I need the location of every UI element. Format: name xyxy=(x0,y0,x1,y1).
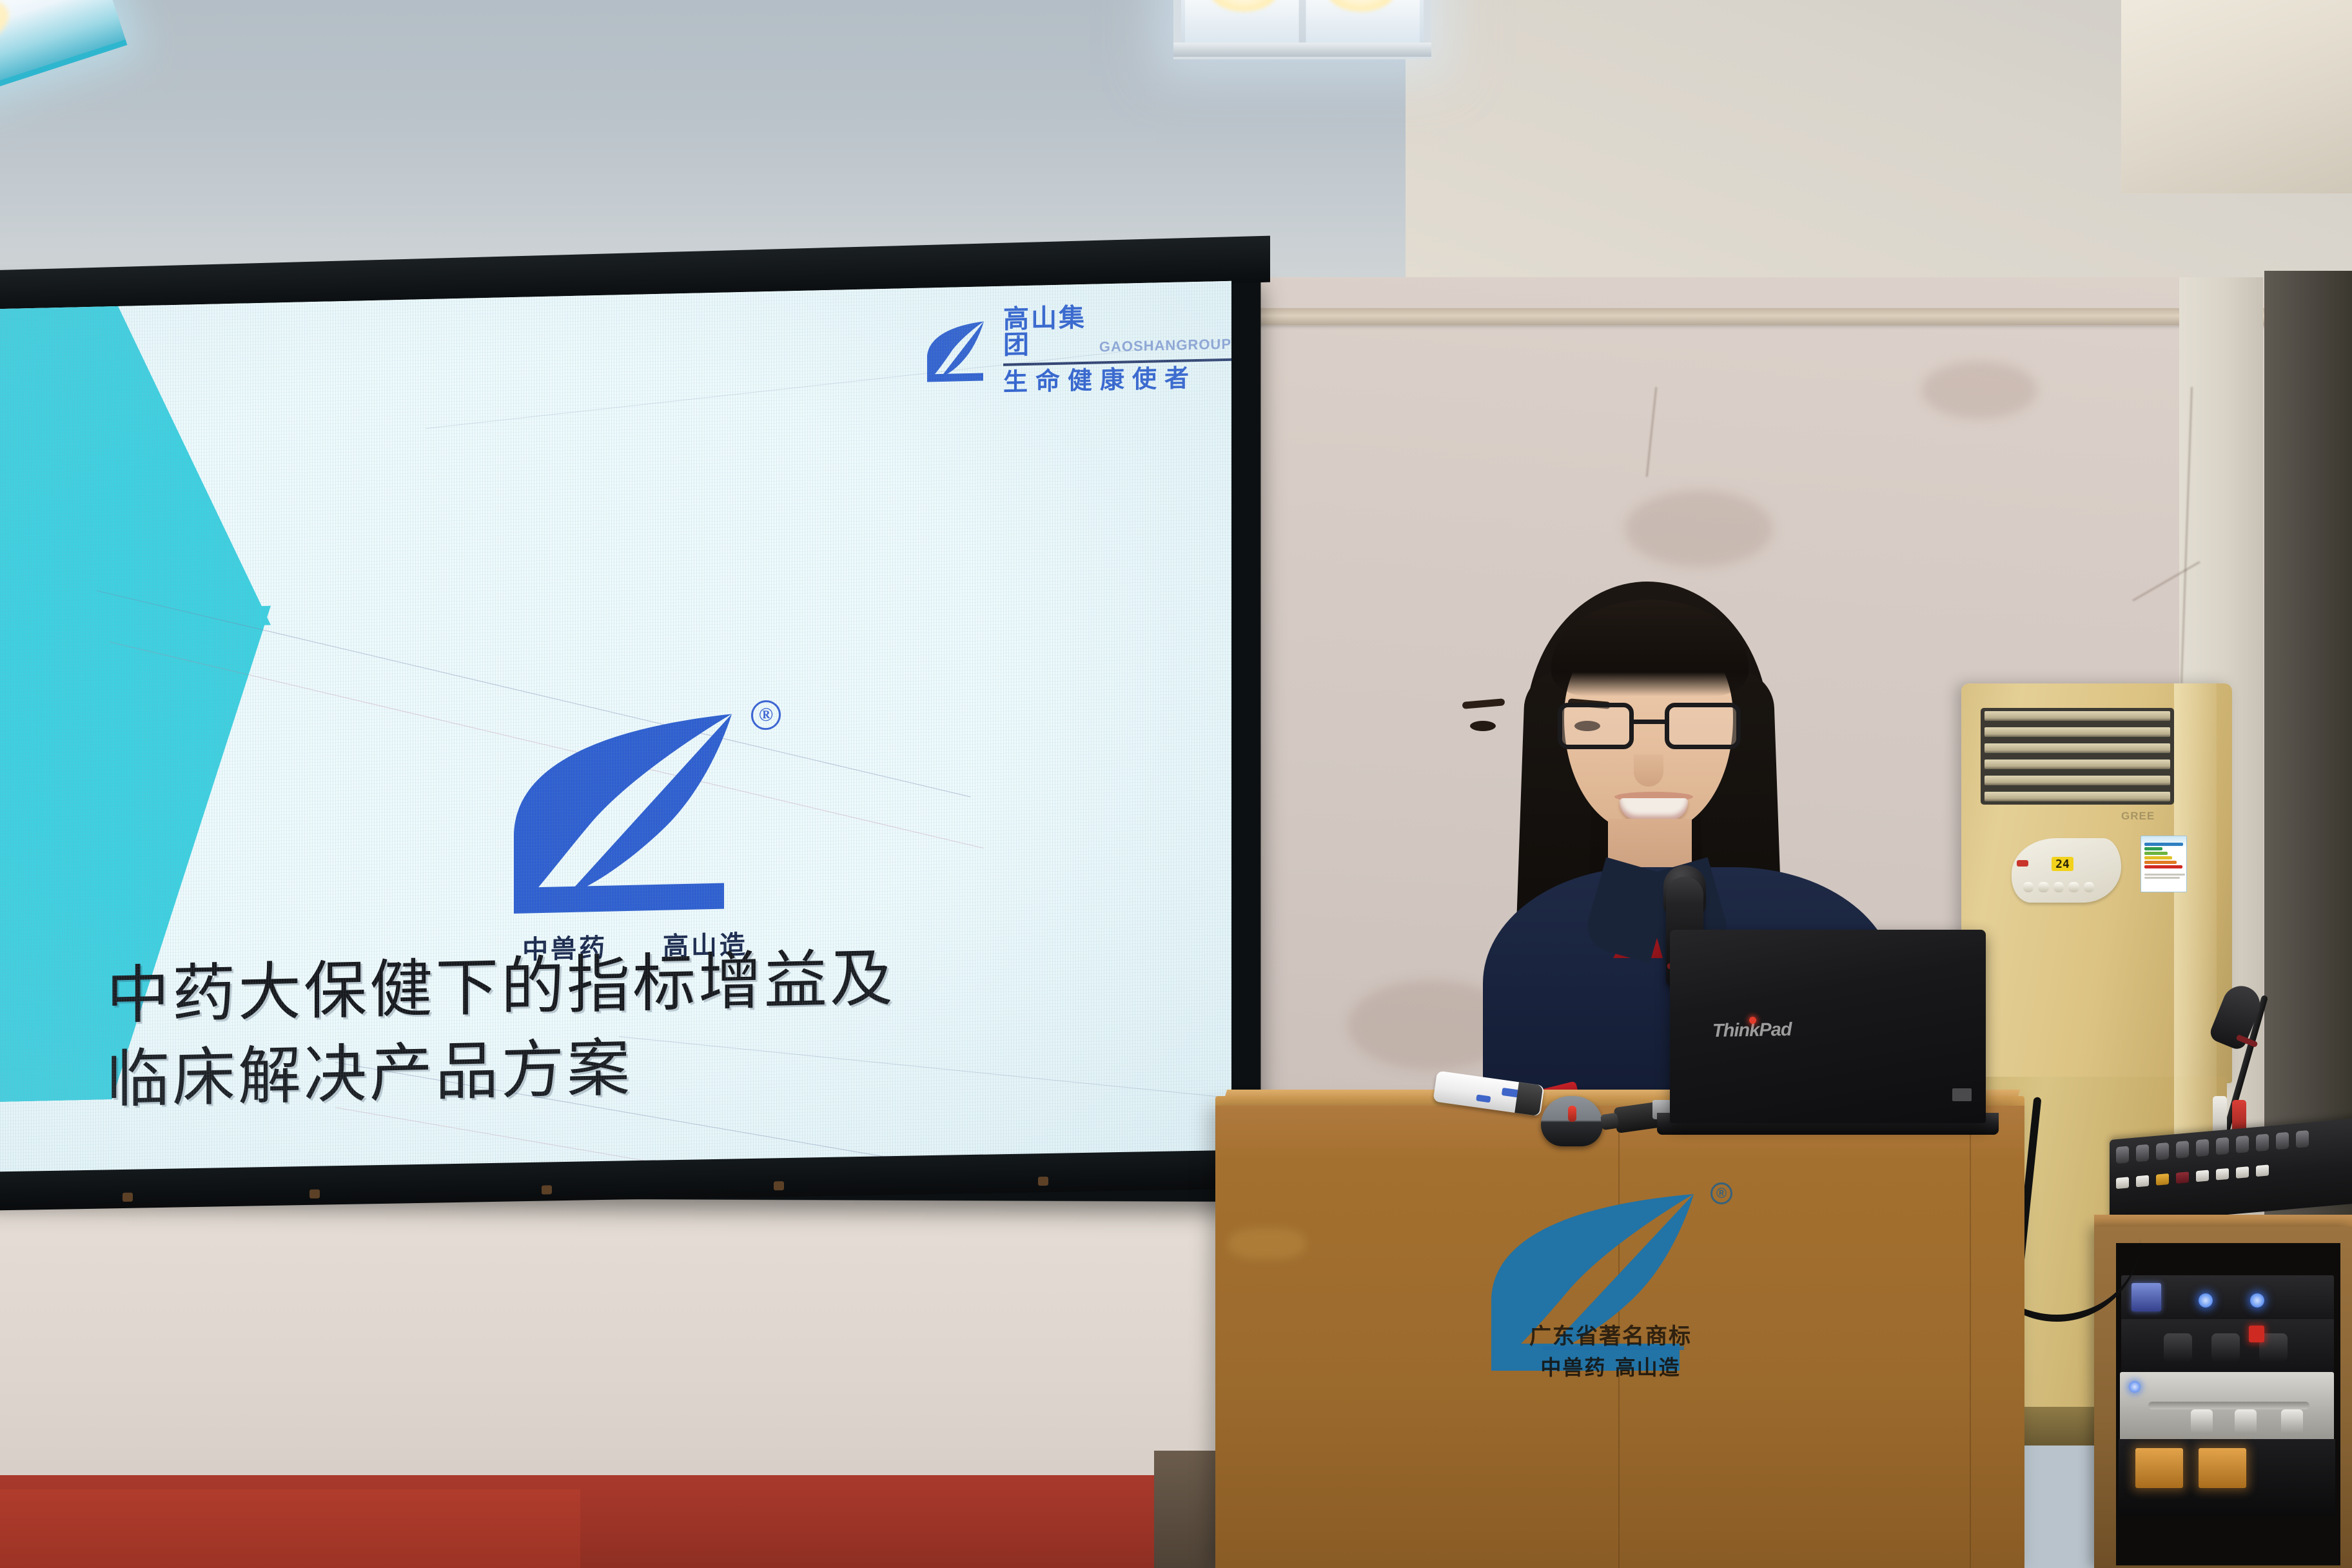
podium-logo-text-line2: 中兽药 高山造 xyxy=(1475,1351,1746,1381)
company-name-cn: 高山集团 xyxy=(1003,305,1093,358)
ac-power-led-icon xyxy=(2017,860,2028,867)
mouth xyxy=(1620,798,1688,820)
wall-stain xyxy=(1625,490,1773,567)
gaoshan-mountain-pen-logo-icon: ® xyxy=(1486,1186,1738,1380)
light-lip xyxy=(1173,43,1431,57)
vu-meter-unit[interactable] xyxy=(2119,1439,2335,1516)
gaoshan-mountain-pen-logo-icon xyxy=(922,317,992,386)
ac-louver xyxy=(1984,759,2170,769)
label-bar xyxy=(2144,847,2162,850)
mixer-knob[interactable] xyxy=(2176,1141,2189,1159)
mixer-knob[interactable] xyxy=(2196,1139,2209,1157)
podium-logo-rule xyxy=(1542,1346,1684,1350)
mixer-fader[interactable] xyxy=(2176,1171,2189,1184)
light-bulb-icon xyxy=(1208,0,1279,12)
slide-title: 中药大保健下的指标增益及 临床解决产品方案 xyxy=(106,934,1009,1122)
eyeglass-lens-left xyxy=(1558,703,1634,749)
screen-screw xyxy=(122,1193,133,1202)
mixer-fader[interactable] xyxy=(2216,1168,2229,1181)
wall-molding-trim xyxy=(1180,308,2352,325)
label-bar xyxy=(2144,865,2182,868)
mixer-fader[interactable] xyxy=(2256,1164,2269,1177)
wireless-microphone-receiver[interactable] xyxy=(2121,1275,2334,1324)
mixer-fader[interactable] xyxy=(2156,1173,2169,1186)
podium-logo-text-line1: 广东省著名商标 xyxy=(1475,1318,1746,1350)
company-name-en: GAOSHANGROUP xyxy=(1099,337,1231,357)
stage-carpet-front xyxy=(0,1489,580,1568)
label-bar xyxy=(2144,861,2177,864)
chevron-top-shape xyxy=(0,290,271,638)
mixer-fader[interactable] xyxy=(2196,1170,2209,1182)
eye-left xyxy=(1470,721,1496,731)
amplifier-knob[interactable] xyxy=(2164,1333,2192,1362)
registered-trademark-icon: ® xyxy=(751,700,781,730)
eyeglass-bridge xyxy=(1634,720,1666,724)
ac-button[interactable] xyxy=(2023,882,2033,892)
label-bar xyxy=(2144,877,2180,879)
podium-panel-seam xyxy=(1970,1123,1971,1568)
label-bar xyxy=(2144,856,2172,859)
mouse-scroll-wheel[interactable] xyxy=(1568,1106,1576,1122)
slide-header-logo: 高山集团 GAOSHANGROUP 生命健康使者 xyxy=(922,302,1231,397)
mixer-fader[interactable] xyxy=(2236,1166,2249,1179)
amplifier-knob[interactable] xyxy=(2211,1333,2240,1362)
clicker-button[interactable] xyxy=(1502,1088,1519,1098)
amplifier-knob[interactable] xyxy=(2281,1409,2303,1434)
light-bulb-icon xyxy=(0,0,15,57)
label-bar xyxy=(2144,874,2185,876)
amplifier-slider-track[interactable] xyxy=(2148,1402,2309,1409)
ceiling-corner xyxy=(2121,0,2352,193)
podium-smudge xyxy=(1228,1228,1306,1259)
vu-meter-icon xyxy=(2199,1448,2246,1488)
mixer-knob[interactable] xyxy=(2276,1132,2289,1150)
silver-amplifier[interactable] xyxy=(2120,1372,2334,1442)
screen-screw xyxy=(542,1185,552,1194)
ac-button[interactable] xyxy=(2053,882,2064,892)
projection-screen-surface[interactable]: 高山集团 GAOSHANGROUP 生命健康使者 ® 中兽药 xyxy=(0,281,1231,1180)
screen-screw xyxy=(1038,1177,1048,1186)
ac-button[interactable] xyxy=(2084,882,2094,892)
registered-trademark-icon: ® xyxy=(1710,1182,1732,1204)
ac-air-grille xyxy=(1981,708,2174,805)
thinkpad-indicator-icon xyxy=(1749,1017,1756,1024)
label-bar xyxy=(2144,852,2168,855)
gree-brand-icon: GREE xyxy=(2121,810,2155,823)
mixer-knob[interactable] xyxy=(2296,1130,2309,1148)
amplifier-knob[interactable] xyxy=(2191,1409,2213,1434)
ac-temperature-display: 24 xyxy=(2052,857,2073,871)
company-slogan: 生命健康使者 xyxy=(1003,365,1231,395)
eyeglasses-icon xyxy=(1558,703,1741,753)
ac-louver xyxy=(1984,727,2170,737)
wall-stain xyxy=(1921,361,2037,419)
nose xyxy=(1634,754,1663,787)
screen-screw xyxy=(774,1181,784,1190)
ac-button-row[interactable] xyxy=(2023,882,2094,892)
light-bulb-icon xyxy=(1326,0,1396,12)
amplifier-power-switch[interactable] xyxy=(2249,1326,2264,1342)
energy-efficiency-label xyxy=(2141,836,2187,892)
laptop-badge xyxy=(1952,1088,1972,1101)
amplifier-led-icon xyxy=(2129,1381,2141,1393)
mixer-knob[interactable] xyxy=(2236,1135,2249,1153)
receiver-display xyxy=(2131,1283,2161,1311)
ac-button[interactable] xyxy=(2038,882,2048,892)
mixer-knob[interactable] xyxy=(2216,1137,2229,1155)
mixer-knob[interactable] xyxy=(2156,1142,2169,1161)
ac-louver xyxy=(1984,743,2170,753)
wall-below-screen xyxy=(0,1186,1219,1522)
conference-room-photo: 高山集团 GAOSHANGROUP 生命健康使者 ® 中兽药 xyxy=(0,0,2352,1568)
gaoshan-mountain-pen-logo-icon: ® xyxy=(500,704,770,923)
eyebrow-left xyxy=(1462,698,1505,709)
label-bar xyxy=(2144,843,2183,846)
mixer-knob[interactable] xyxy=(2256,1133,2269,1151)
power-amplifier-dark[interactable] xyxy=(2121,1319,2334,1375)
wall-dark-column xyxy=(2264,271,2352,1238)
ac-louver xyxy=(1984,792,2170,801)
ac-louver xyxy=(1984,776,2170,785)
vu-meter-icon xyxy=(2135,1448,2183,1488)
eyeglass-lens-right xyxy=(1665,703,1741,749)
ceiling-light-center-icon xyxy=(1173,0,1431,59)
slide-header-text: 高山集团 GAOSHANGROUP 生命健康使者 xyxy=(1003,302,1231,395)
clicker-button[interactable] xyxy=(1476,1094,1491,1102)
ac-louver xyxy=(1984,711,2170,721)
screen-screw xyxy=(309,1190,320,1199)
amplifier-knob[interactable] xyxy=(2235,1409,2257,1434)
presentation-slide: 高山集团 GAOSHANGROUP 生命健康使者 ® 中兽药 xyxy=(0,281,1231,1180)
receiver-led-icon xyxy=(2199,1293,2213,1308)
receiver-led-icon xyxy=(2250,1293,2264,1308)
ac-button[interactable] xyxy=(2068,882,2079,892)
